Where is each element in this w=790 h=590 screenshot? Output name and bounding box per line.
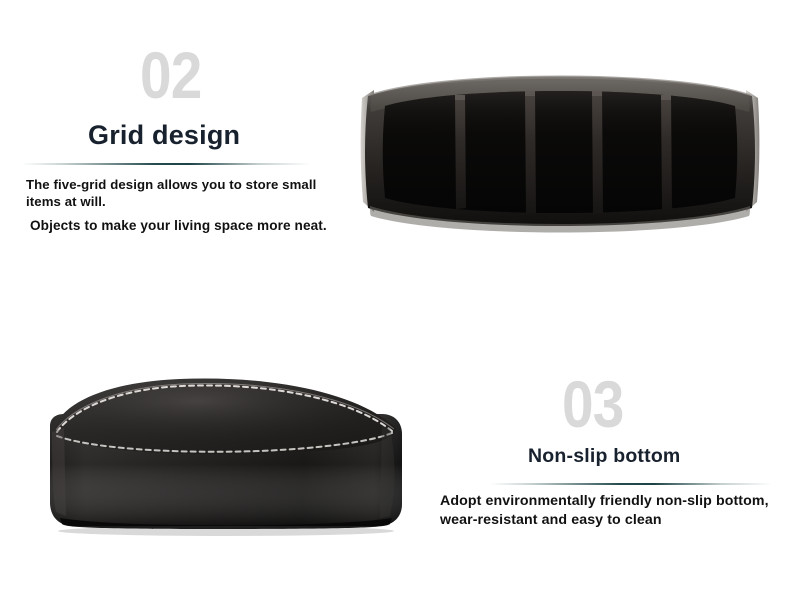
- section-title-grid-design: Grid design: [88, 122, 240, 149]
- section-number-03: 03: [562, 371, 623, 437]
- section-divider-02: [22, 163, 310, 165]
- section-paragraph-02-b: Objects to make your living space more n…: [30, 217, 360, 235]
- section-paragraph-02-a: The five-grid design allows you to store…: [26, 176, 342, 211]
- section-number-02: 02: [140, 42, 201, 108]
- product-image-grid-tray: [352, 62, 768, 238]
- product-image-leather-box: [30, 366, 422, 550]
- section-paragraph-03-a: Adopt environmentally friendly non-slip …: [440, 492, 780, 529]
- section-divider-03: [490, 483, 772, 485]
- section-title-non-slip-bottom: Non-slip bottom: [528, 447, 680, 467]
- product-detail-page: 02 Grid design The five-grid design allo…: [0, 0, 790, 590]
